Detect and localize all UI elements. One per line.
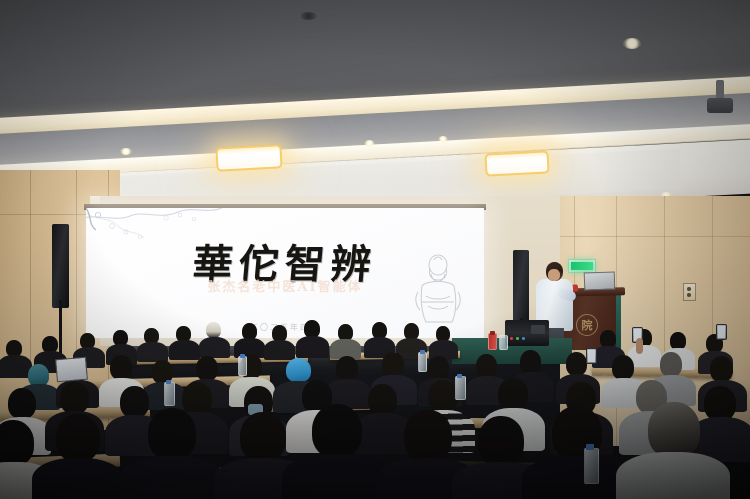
audience-head	[382, 352, 404, 377]
audience-head	[428, 380, 458, 413]
audience-head	[60, 382, 89, 414]
pa-speaker-stand-left	[59, 300, 62, 360]
audience-head	[110, 355, 132, 380]
bottle-av-table-2	[499, 335, 508, 350]
ceiling-projector	[716, 80, 724, 102]
audience-head	[566, 352, 587, 376]
audience-head	[196, 356, 218, 381]
audience-shoulders	[522, 456, 630, 499]
audience-head	[0, 420, 34, 466]
audience-head	[404, 410, 452, 462]
audience-shoulders	[120, 456, 224, 499]
tablet-on-desk	[55, 357, 88, 383]
audience-shoulders	[169, 340, 200, 360]
water-bottle-2	[418, 352, 427, 372]
pa-speaker-left	[52, 224, 69, 308]
audience-shoulders	[199, 337, 230, 358]
audience-head	[660, 352, 682, 377]
ceiling-panel-light-right	[484, 150, 549, 176]
ceiling-recess-hole	[300, 12, 317, 20]
water-bottle-4	[455, 376, 466, 400]
audience-head	[8, 388, 36, 419]
audience-head-blue-cap	[286, 358, 311, 382]
podium-emblem: 院	[576, 314, 598, 336]
audience-head-white-cap	[206, 322, 221, 338]
ceiling-downlight-4	[438, 136, 448, 142]
audience-head	[520, 350, 541, 374]
audience-head	[428, 356, 449, 380]
av-amplifier-rack	[505, 320, 549, 346]
smartphone-raised-2	[716, 324, 727, 340]
ceiling-downlight-2	[120, 148, 132, 155]
presenter-face	[548, 269, 560, 281]
ceiling-panel-light-left	[215, 144, 282, 171]
smartphone-raised-3	[586, 348, 597, 364]
wall-control-panel	[683, 283, 696, 301]
audience-head	[336, 356, 358, 381]
projection-screen: 華佗智辨 张杰名老中医AI智能体 二〇二五年四月	[86, 208, 484, 338]
pa-speaker-right	[513, 250, 529, 324]
audience-head	[704, 386, 736, 421]
audience-shoulders	[32, 458, 124, 499]
ceiling-downlight-1	[623, 38, 641, 49]
audience-head	[120, 386, 149, 418]
lecture-hall-photo: 華佗智辨 张杰名老中医AI智能体 二〇二五年四月 院	[0, 0, 750, 499]
audience-head	[710, 356, 733, 382]
audience-shoulders	[296, 336, 329, 358]
raised-arm-1	[636, 338, 643, 354]
audience-shoulders	[137, 342, 168, 362]
audience-head	[368, 384, 397, 416]
audience-head	[56, 414, 100, 462]
audience-shoulders	[264, 340, 295, 360]
audience-head	[498, 378, 528, 411]
audience-head	[240, 412, 286, 462]
audience-head	[612, 355, 634, 380]
water-bottle-1	[238, 356, 247, 376]
bottle-av-table-1	[488, 333, 497, 350]
audience-head-gray-hair	[648, 402, 700, 458]
water-bottle-5	[584, 448, 599, 484]
ceiling-downlight-3	[364, 140, 375, 147]
laptop-screen	[584, 271, 616, 290]
audience-head	[478, 416, 524, 466]
audience-shoulders	[616, 452, 730, 499]
seated-sage-illustration-icon	[406, 252, 470, 326]
water-bottle-3	[164, 382, 175, 406]
audience-head	[476, 354, 497, 378]
audience-shoulders	[282, 454, 390, 499]
audience-head	[182, 382, 212, 415]
audience-head	[312, 404, 362, 458]
audience-head	[148, 408, 196, 460]
